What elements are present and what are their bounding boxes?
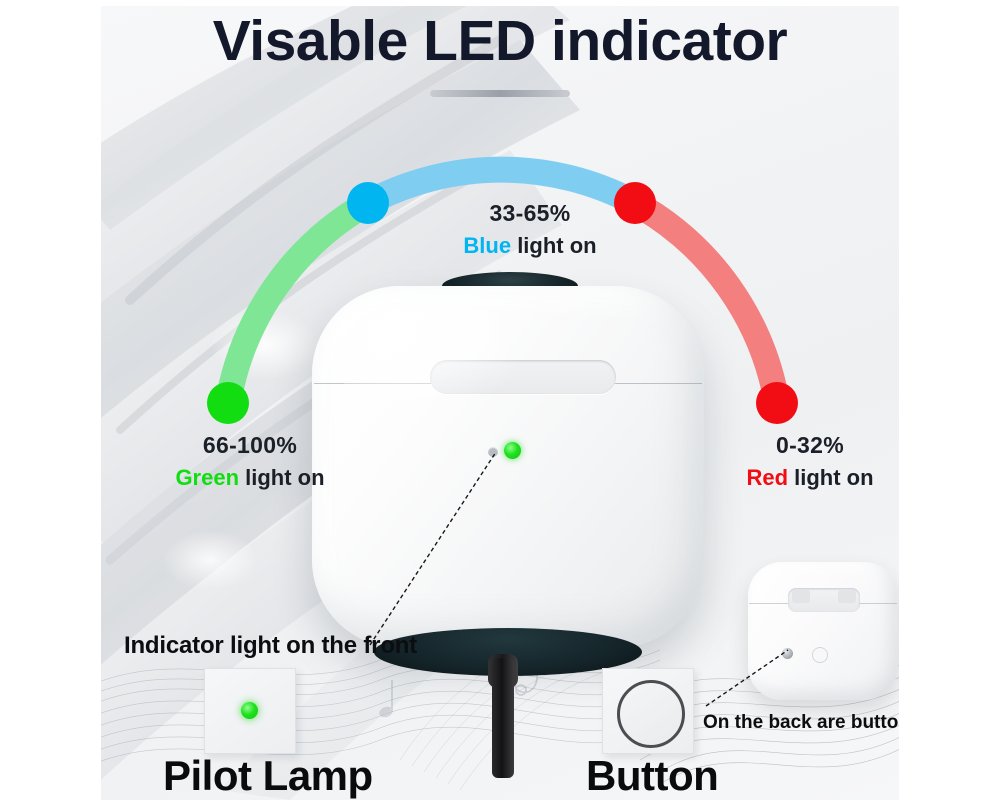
arc-suffix-red: light on [788,465,874,490]
pilot-lamp-title: Pilot Lamp [163,752,373,800]
charging-case-back [748,562,898,702]
back-buttons-label: On the back are buttons [703,712,920,734]
arc-color-word-red: Red [746,465,788,490]
front-indicator-led [504,442,521,459]
arc-label-blue: 33-65% Blue light on [390,200,670,259]
arc-suffix-blue: light on [511,233,597,258]
right-margin [899,0,1000,800]
page-title: Visable LED indicator [0,8,1000,74]
charging-cable [492,658,514,778]
back-pairing-button [782,648,793,659]
case-highlight [338,302,528,422]
case-led-leader-anchor [488,447,498,457]
title-divider [430,90,570,97]
arc-label-green: 66-100% Green light on [120,432,380,491]
arc-dot-red-end [756,382,798,424]
front-indicator-label: Indicator light on the front [124,632,417,660]
button-ring-icon [617,680,685,748]
arc-state-green: Green light on [120,465,380,491]
arc-range-green: 66-100% [120,432,380,459]
back-button-outline [812,647,828,663]
button-title: Button [586,752,718,800]
button-swatch [602,668,694,754]
arc-dot-green [207,382,249,424]
arc-range-blue: 33-65% [390,200,670,227]
back-case-hinge-right [838,590,856,603]
arc-state-red: Red light on [700,465,920,491]
arc-dot-blue [347,182,389,224]
pilot-lamp-swatch [204,668,296,754]
arc-label-red: 0-32% Red light on [700,432,920,491]
top-margin [0,0,1000,6]
arc-suffix-green: light on [239,465,325,490]
left-margin [0,0,101,800]
arc-color-word-green: Green [175,465,239,490]
back-case-hinge-left [792,590,810,603]
arc-color-word-blue: Blue [463,233,511,258]
arc-range-red: 0-32% [700,432,920,459]
infographic-canvas: Visable LED indicator 33-65% Blue light … [0,0,1000,800]
pilot-lamp-led [241,702,258,719]
back-case-body [748,562,898,700]
arc-state-blue: Blue light on [390,233,670,259]
arc-segment-blue [368,170,635,203]
